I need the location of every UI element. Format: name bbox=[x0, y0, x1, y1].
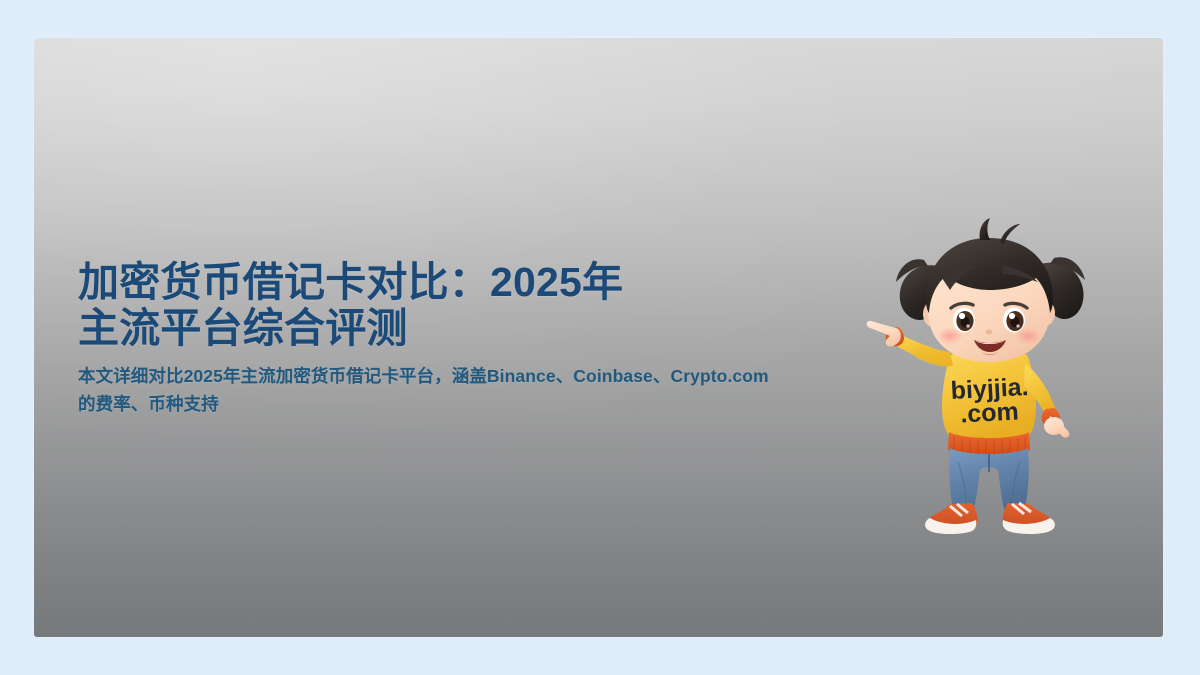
svg-text:.com: .com bbox=[960, 398, 1020, 429]
head bbox=[923, 218, 1055, 362]
page-title: 加密货币借记卡对比：2025年 主流平台综合评测 bbox=[78, 260, 818, 352]
pointing-hand bbox=[867, 321, 901, 347]
slide-text-block: 加密货币借记卡对比：2025年 主流平台综合评测 本文详细对比2025年主流加密… bbox=[78, 260, 818, 419]
slide-card: 加密货币借记卡对比：2025年 主流平台综合评测 本文详细对比2025年主流加密… bbox=[34, 38, 1163, 637]
page-subtitle: 本文详细对比2025年主流加密货币借记卡平台，涵盖Binance、Coinbas… bbox=[78, 362, 778, 419]
slide-canvas: 加密货币借记卡对比：2025年 主流平台综合评测 本文详细对比2025年主流加密… bbox=[0, 0, 1200, 675]
open-hand bbox=[1044, 416, 1069, 438]
shoes bbox=[925, 503, 1055, 534]
sweater-logo-text: biyjjia. .com bbox=[950, 373, 1029, 429]
mascot-illustration: biyjjia. .com bbox=[854, 216, 1124, 546]
